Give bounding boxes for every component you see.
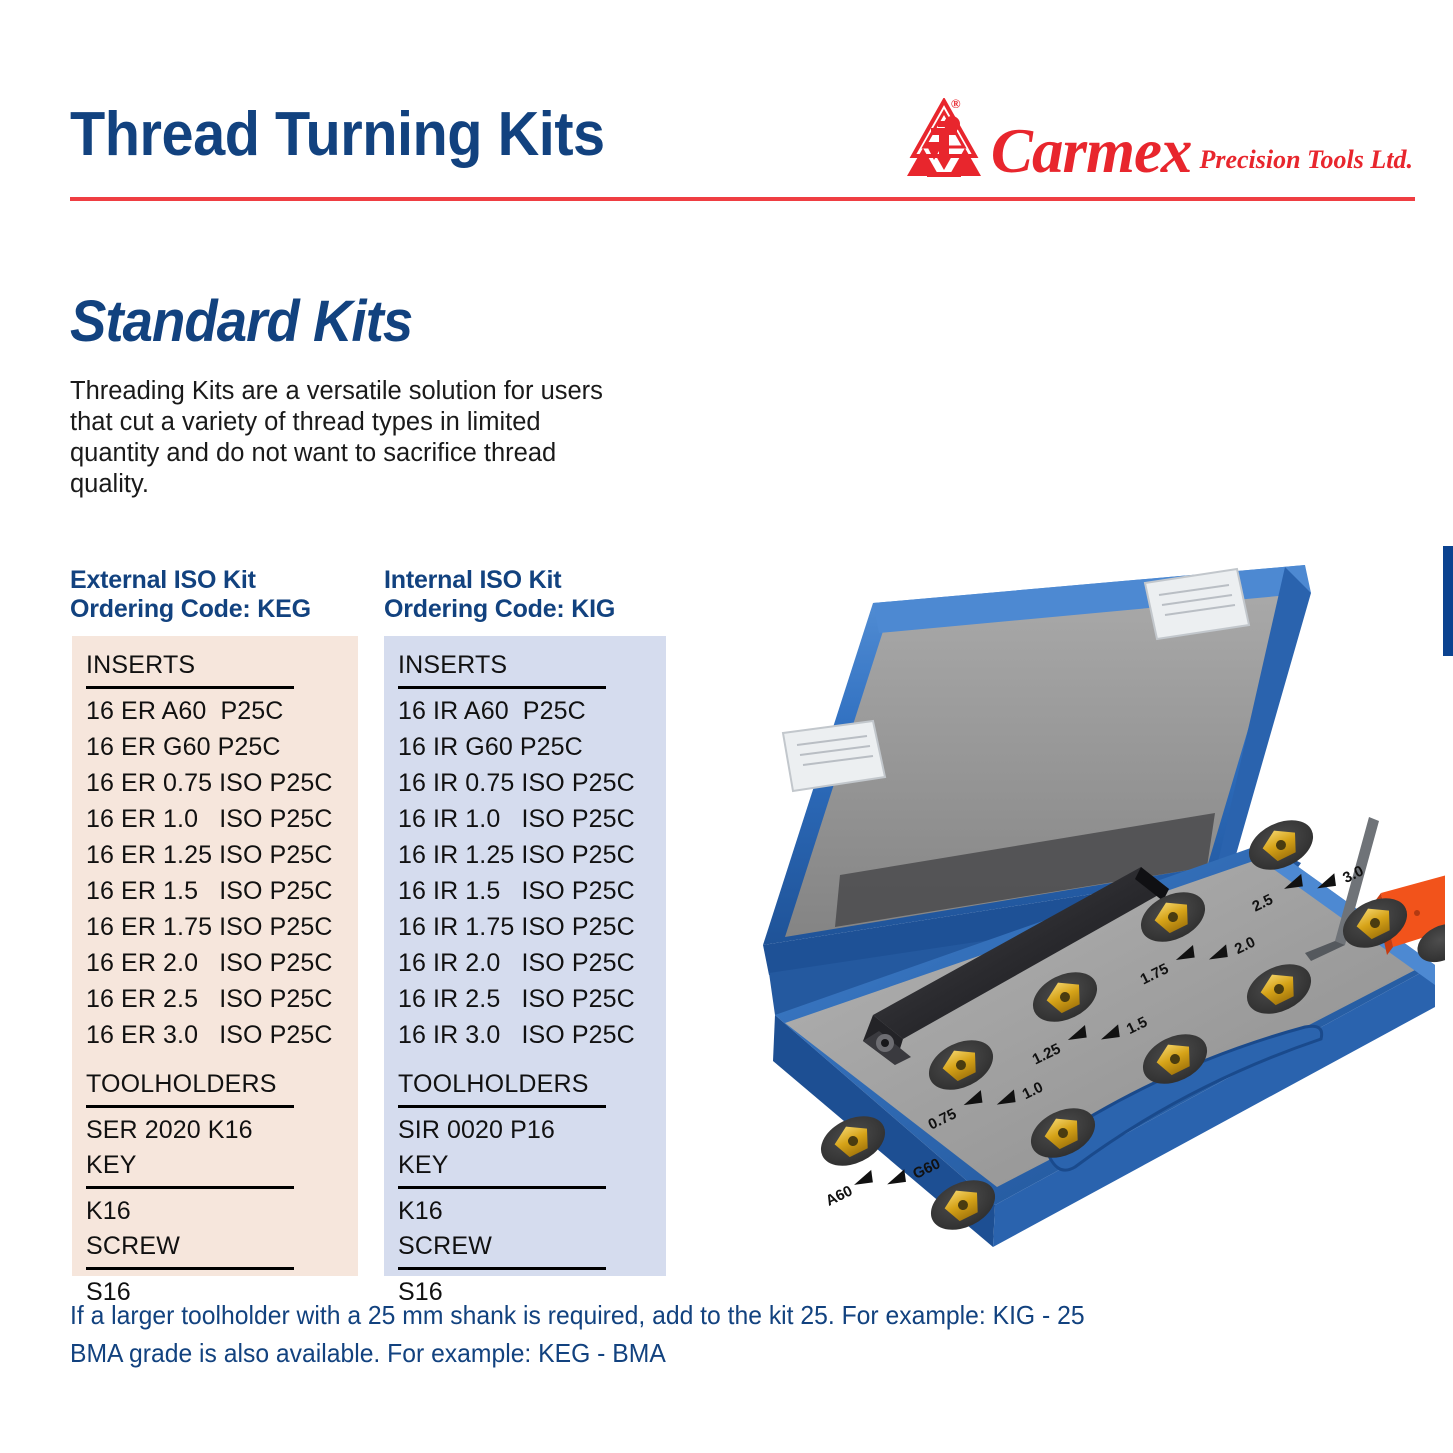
group-divider (86, 1267, 294, 1270)
key-row: K16 (86, 1193, 358, 1229)
group-divider (398, 686, 606, 689)
group-label-screw: SCREW (86, 1229, 358, 1263)
insert-row: 16 IR A60 P25C (398, 693, 666, 729)
insert-row: 16 IR 0.75 ISO P25C (398, 765, 666, 801)
insert-row: 16 ER 1.25 ISO P25C (86, 837, 358, 873)
toolholder-row: SIR 0020 P16 (398, 1112, 666, 1148)
insert-row: 16 ER 3.0 ISO P25C (86, 1017, 358, 1053)
page-title: Thread Turning Kits (70, 104, 605, 166)
carmex-logo: ® Carmex Precision Tools Ltd. (905, 98, 1413, 182)
insert-row: 16 IR 2.5 ISO P25C (398, 981, 666, 1017)
kit-panel-internal: INSERTS 16 IR A60 P25C 16 IR G60 P25C 16… (384, 636, 666, 1276)
group-divider (86, 686, 294, 689)
insert-row: 16 IR 1.0 ISO P25C (398, 801, 666, 837)
toolholder-row: SER 2020 K16 (86, 1112, 358, 1148)
group-label-screw: SCREW (398, 1229, 666, 1263)
insert-row: 16 ER 2.5 ISO P25C (86, 981, 358, 1017)
section-title: Standard Kits (70, 288, 412, 355)
group-label-toolholders: TOOLHOLDERS (86, 1067, 358, 1101)
insert-row: 16 ER 1.0 ISO P25C (86, 801, 358, 837)
insert-row: 16 ER 1.75 ISO P25C (86, 909, 358, 945)
key-row: K16 (398, 1193, 666, 1229)
insert-row: 16 ER G60 P25C (86, 729, 358, 765)
insert-row: 16 ER 1.5 ISO P25C (86, 873, 358, 909)
insert-row: 16 IR G60 P25C (398, 729, 666, 765)
group-divider (86, 1186, 294, 1189)
insert-row: 16 ER A60 P25C (86, 693, 358, 729)
group-divider (398, 1186, 606, 1189)
insert-row: 16 IR 3.0 ISO P25C (398, 1017, 666, 1053)
footer-note: If a larger toolholder with a 25 mm shan… (70, 1296, 1210, 1372)
insert-row: 16 ER 2.0 ISO P25C (86, 945, 358, 981)
insert-row: 16 IR 1.75 ISO P25C (398, 909, 666, 945)
group-divider (86, 1105, 294, 1108)
group-divider (398, 1267, 606, 1270)
product-photo-thread-turning-kit-case: A60 G60 0.75 1.0 1.25 1.5 1.75 (745, 545, 1445, 1265)
kit-panel-external: INSERTS 16 ER A60 P25C 16 ER G60 P25C 16… (72, 636, 358, 1276)
group-label-key: KEY (86, 1148, 358, 1182)
group-label-inserts: INSERTS (86, 648, 358, 682)
pocket-label-a60: A60 (823, 1182, 855, 1209)
group-label-inserts: INSERTS (398, 648, 666, 682)
group-label-toolholders: TOOLHOLDERS (398, 1067, 666, 1101)
group-label-key: KEY (398, 1148, 666, 1182)
insert-row: 16 IR 2.0 ISO P25C (398, 945, 666, 981)
title-underline-rule (70, 197, 1415, 201)
insert-row: 16 IR 1.5 ISO P25C (398, 873, 666, 909)
insert-row: 16 ER 0.75 ISO P25C (86, 765, 358, 801)
registered-trademark-icon: ® (951, 96, 961, 112)
carmex-triangle-icon: ® (905, 98, 983, 182)
group-divider (398, 1105, 606, 1108)
brand-tagline: Precision Tools Ltd. (1199, 147, 1413, 182)
brand-wordmark: Carmex (991, 122, 1192, 182)
kit-heading-external: External ISO Kit Ordering Code: KEG (70, 566, 311, 624)
insert-row: 16 IR 1.25 ISO P25C (398, 837, 666, 873)
intro-paragraph: Threading Kits are a versatile solution … (70, 376, 630, 500)
kit-heading-internal: Internal ISO Kit Ordering Code: KIG (384, 566, 615, 624)
